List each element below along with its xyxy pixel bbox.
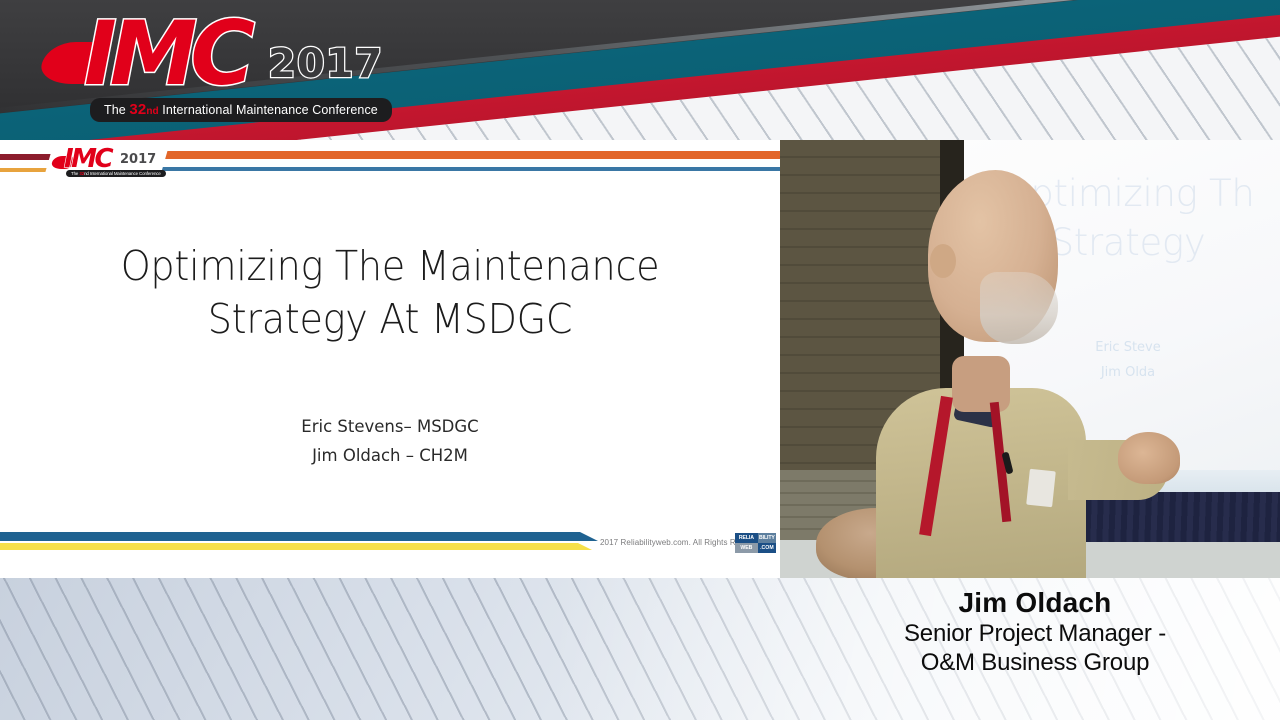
top-banner: IMC 2017 The 32nd International Maintena… [0, 0, 1280, 140]
speaker-name: Jim Oldach [790, 586, 1280, 619]
slide-imc-year: 2017 [120, 153, 156, 166]
slide-footer-yellow-bar [0, 543, 592, 550]
speaker-ear [930, 244, 956, 278]
slide-header-orange-bar [158, 151, 780, 159]
speaker-hand [1118, 432, 1180, 484]
slide-imc-letters: IMC [64, 146, 111, 172]
slide-footer: 2017 Reliabilityweb.com. All Rights Rese… [0, 532, 780, 568]
slide-header-blue-bar [158, 167, 780, 171]
imc-logo-letters: IMC [84, 10, 248, 98]
slide-header: IMC 2017 The 32nd International Maintena… [0, 140, 780, 186]
slide-imc-tagline: The 32nd International Maintenance Confe… [66, 170, 166, 177]
imc-logo: IMC 2017 The 32nd International Maintena… [40, 16, 370, 126]
slide-title-line-2: Strategy At MSDGC [65, 293, 716, 346]
badge-row-bottom: WEB .COM [735, 543, 776, 553]
slide-title-line-1: Optimizing The Maintenance [65, 240, 716, 293]
tagline-number: 32 [129, 101, 146, 118]
speaker-caption: Jim Oldach Senior Project Manager - O&M … [790, 586, 1280, 678]
lower-caption-area: Jim Oldach Senior Project Manager - O&M … [0, 578, 1280, 720]
badge-com-text: .COM [758, 543, 776, 553]
speaker-neck [952, 356, 1010, 412]
slide-header-imc-logo: IMC 2017 The 32nd International Maintena… [42, 143, 169, 183]
speaker-title-line-1: Senior Project Manager - [790, 619, 1280, 648]
imc-logo-year: 2017 [268, 44, 383, 84]
presenter-line-2: Jim Oldach – CH2M [40, 441, 740, 470]
slide-title: Optimizing The Maintenance Strategy At M… [65, 240, 716, 347]
badge-web-text: WEB [735, 543, 758, 553]
slide-presenters: Eric Stevens– MSDGC Jim Oldach – CH2M [40, 412, 740, 471]
tagline-suffix: International Maintenance Conference [159, 103, 378, 117]
imc-logo-tagline: The 32nd International Maintenance Confe… [90, 98, 392, 122]
badge-row-top: RELIA BILITY [735, 533, 776, 543]
speaker-name-badge [1026, 469, 1056, 508]
tagline-prefix: The [104, 103, 129, 117]
reliabilityweb-badge: RELIA BILITY WEB .COM [735, 533, 776, 553]
slide-header-logo-inner: IMC 2017 The 32nd International Maintena… [48, 143, 164, 183]
speaker-beard [980, 272, 1058, 344]
video-panel[interactable]: Optimizing Th Strategy Eric Steve Jim Ol… [780, 140, 1280, 578]
speaker-title-line-2: O&M Business Group [790, 648, 1280, 677]
presenter-line-1: Eric Stevens– MSDGC [40, 412, 740, 441]
presentation-player: IMC 2017 The 32nd International Maintena… [0, 0, 1280, 720]
slide-footer-blue-bar [0, 532, 598, 541]
tagline-ordinal: nd [146, 106, 158, 117]
slide-panel: IMC 2017 The 32nd International Maintena… [0, 140, 780, 578]
badge-bility-text: BILITY [758, 533, 776, 543]
badge-relia-text: RELIA [735, 533, 758, 543]
slide-tagline-suffix: nd International Maintenance Conference [84, 171, 161, 176]
